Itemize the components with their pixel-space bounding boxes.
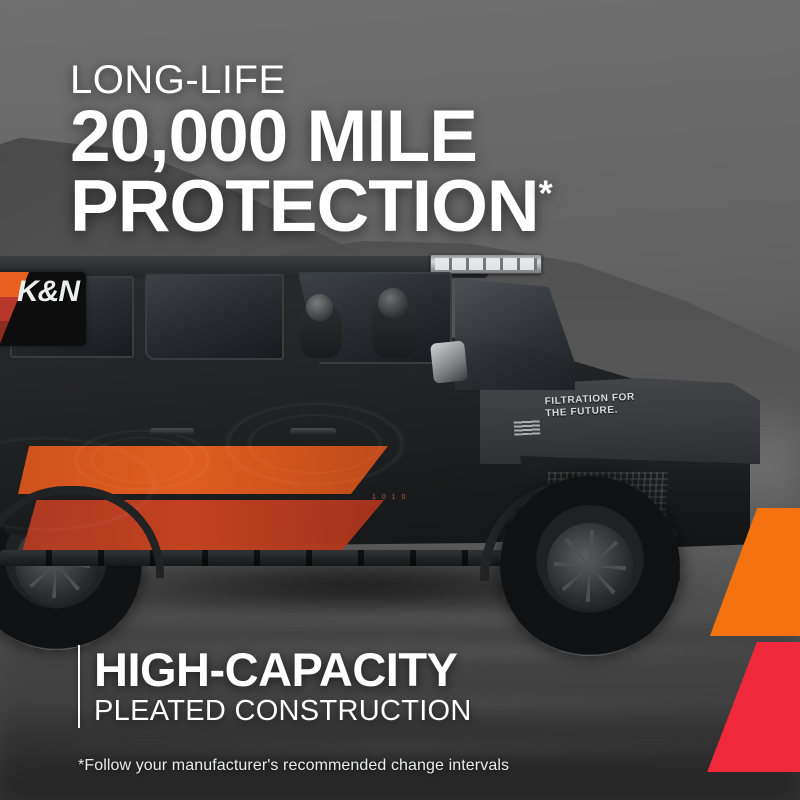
kn-logo-text: K&N: [17, 277, 79, 307]
door-handle-front: [290, 428, 336, 435]
lower-text-stack: HIGH-CAPACITY PLEATED CONSTRUCTION: [94, 645, 472, 728]
kn-logo-badge: K&N: [0, 272, 86, 346]
vehicle-suv: [0, 250, 800, 650]
headline-asterisk: *: [539, 173, 552, 214]
flag-decal: [514, 419, 541, 435]
hood-decal-text: FILTRATION FOR THE FUTURE.: [544, 392, 635, 421]
door-handle-rear: [150, 428, 194, 435]
disclaimer-text: *Follow your manufacturer's recommended …: [78, 757, 509, 775]
passenger-head: [306, 294, 333, 321]
lower-heading: HIGH-CAPACITY: [94, 645, 472, 694]
door-badge-number: 1 0 1 0: [372, 494, 407, 501]
lower-text-block: HIGH-CAPACITY PLEATED CONSTRUCTION: [78, 645, 472, 728]
side-mirror: [430, 340, 468, 383]
headline-line-2: PROTECTION*: [70, 172, 730, 242]
headline-line-1: 20,000 MILE: [70, 102, 730, 172]
wheel-spokes: [554, 530, 626, 602]
headline-line-2-text: PROTECTION: [70, 166, 539, 247]
front-wheel: [500, 476, 680, 656]
vertical-divider-rule: [78, 645, 80, 728]
driver-head: [378, 288, 408, 318]
headline-block: LONG-LIFE 20,000 MILE PROTECTION*: [70, 58, 730, 242]
lower-subheading: PLEATED CONSTRUCTION: [94, 694, 472, 728]
vehicle-window-mid: [145, 274, 284, 360]
vehicle-windshield: [455, 278, 575, 390]
advertisement-canvas: K&N FILTRATION FOR THE FUTURE. 1 0 1 0 L…: [0, 0, 800, 800]
roof-light-bar: [430, 254, 542, 274]
